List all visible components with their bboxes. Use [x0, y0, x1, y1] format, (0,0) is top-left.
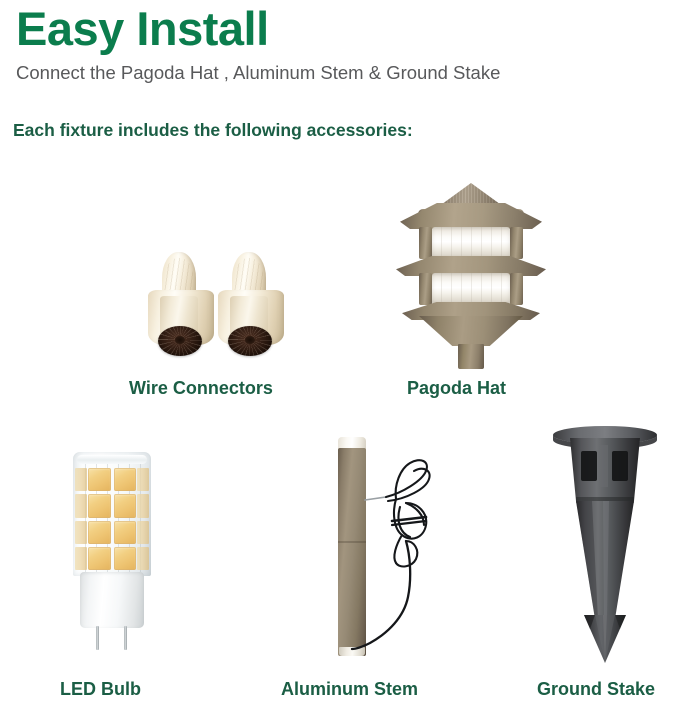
led-chip	[88, 521, 111, 544]
connector-spiral-base	[158, 326, 202, 356]
bulb-pin-left	[96, 626, 99, 650]
stake-center-rib-upper	[600, 445, 608, 487]
led-side-chip	[137, 494, 149, 517]
label-aluminum-stem: Aluminum Stem	[281, 679, 418, 700]
led-side-chip	[75, 521, 87, 544]
pagoda-glass-ribs-2	[432, 273, 510, 305]
pagoda-glass-ribs-1	[432, 227, 510, 259]
bulb-side-chips-left	[75, 468, 87, 570]
bulb-led-chip-grid	[88, 468, 136, 570]
easy-install-infographic: Easy Install Connect the Pagoda Hat , Al…	[0, 0, 679, 702]
led-chip	[114, 494, 137, 517]
pagoda-hat-icon	[381, 183, 561, 369]
wire-connector-pair-icon	[148, 252, 298, 362]
page-title: Easy Install	[16, 4, 269, 53]
label-ground-stake: Ground Stake	[537, 679, 655, 700]
led-bulb-icon	[66, 452, 158, 650]
led-side-chip	[137, 547, 149, 570]
bulb-pin-right	[124, 626, 127, 650]
led-side-chip	[137, 468, 149, 491]
aluminum-stem-icon	[330, 437, 460, 659]
ground-stake-icon	[548, 423, 662, 663]
pagoda-post-right-2	[510, 273, 523, 305]
label-led-bulb: LED Bulb	[60, 679, 141, 700]
pagoda-tier-1-brim	[400, 203, 542, 229]
connector-spiral-base	[228, 326, 272, 356]
led-chip	[114, 521, 137, 544]
label-pagoda-hat: Pagoda Hat	[407, 378, 506, 399]
pagoda-lower-cone	[419, 316, 523, 346]
led-chip	[114, 547, 137, 570]
stem-power-cable	[330, 437, 460, 659]
led-chip	[88, 547, 111, 570]
led-chip	[88, 468, 111, 491]
pagoda-post-left-2	[419, 273, 432, 305]
led-chip	[88, 494, 111, 517]
led-chip	[114, 468, 137, 491]
page-subtitle: Connect the Pagoda Hat , Aluminum Stem &…	[16, 62, 500, 84]
accessories-intro-text: Each fixture includes the following acce…	[13, 120, 413, 141]
ground-stake-drawing	[548, 423, 662, 663]
bulb-side-chips-right	[137, 468, 149, 570]
bulb-ceramic-base	[80, 572, 144, 628]
pagoda-post-right-1	[510, 227, 523, 259]
led-side-chip	[75, 494, 87, 517]
label-wire-connectors: Wire Connectors	[129, 378, 273, 399]
stake-slot-left	[581, 451, 597, 481]
pagoda-stem-socket	[458, 344, 484, 369]
led-side-chip	[75, 468, 87, 491]
pagoda-post-left-1	[419, 227, 432, 259]
stake-slot-right	[612, 451, 628, 481]
led-side-chip	[137, 521, 149, 544]
led-side-chip	[75, 547, 87, 570]
wire-connector-right	[218, 252, 284, 360]
wire-connector-left	[148, 252, 214, 360]
